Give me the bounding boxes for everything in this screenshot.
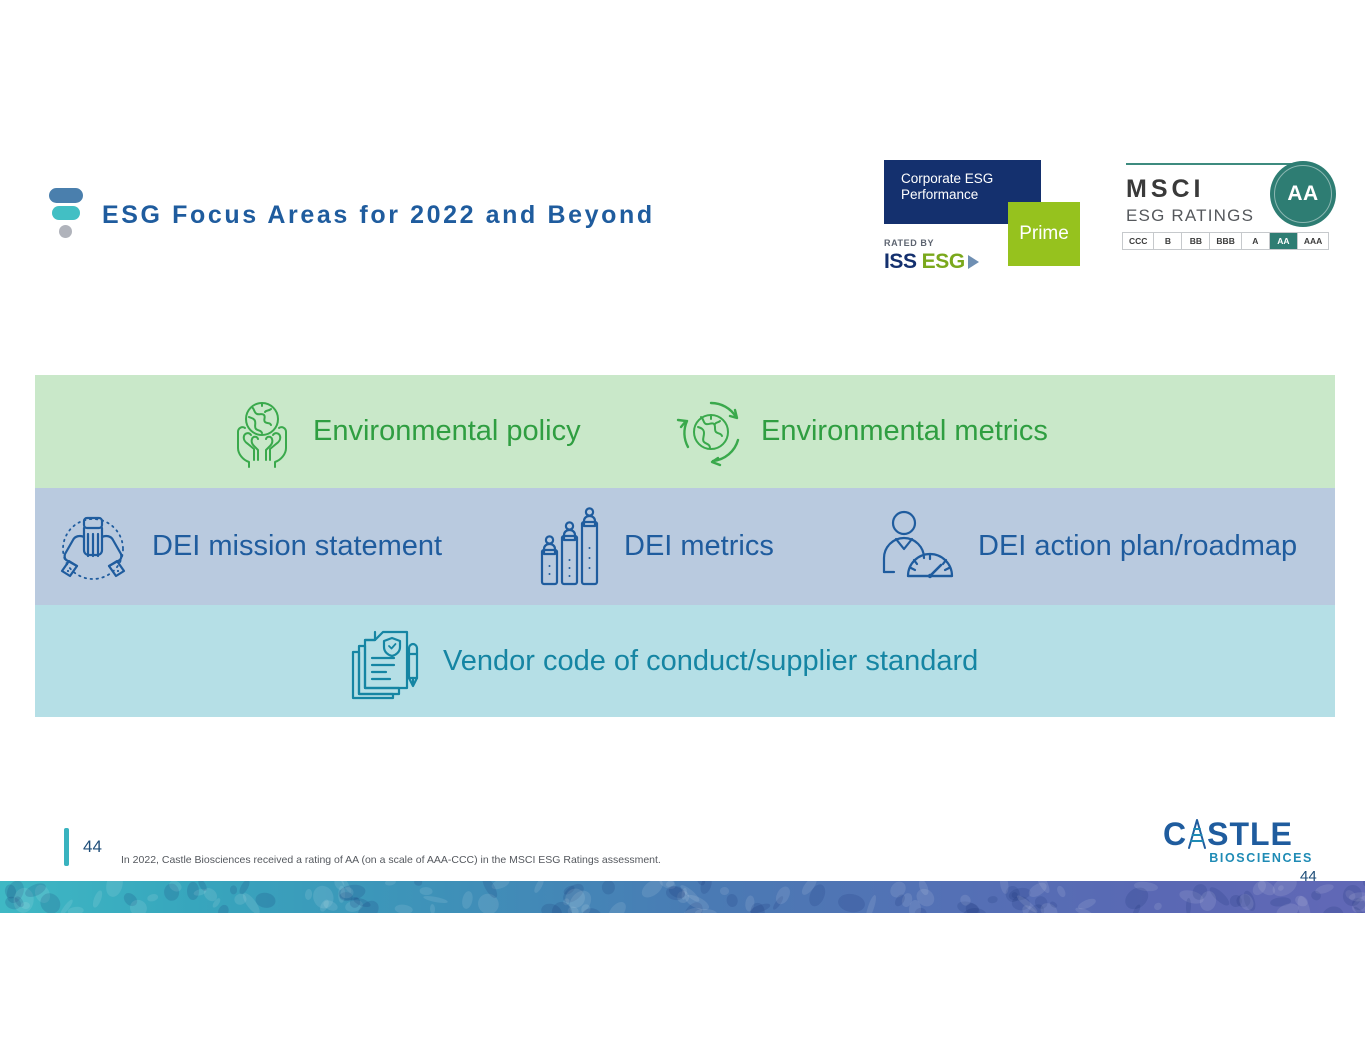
iss-esg-wordmark: ISS ESG: [884, 250, 979, 274]
msci-title: MSCI: [1126, 175, 1205, 204]
msci-scale-cell-bbb: BBB: [1210, 233, 1241, 249]
person-gauge-icon: [878, 506, 962, 588]
texture-blob: [1314, 882, 1334, 895]
castle-subtitle: BIOSCIENCES: [1163, 851, 1313, 865]
focus-item-label: Vendor code of conduct/supplier standard: [443, 645, 978, 678]
msci-scale-cell-aaa: AAA: [1298, 233, 1328, 249]
focus-area-bands: Environmental policy Environmenta: [35, 375, 1335, 717]
msci-scale-cell-a: A: [1242, 233, 1270, 249]
esg-text: ESG: [922, 250, 965, 274]
msci-scale-cell-bb: BB: [1182, 233, 1210, 249]
castle-biosciences-logo: C STLE BIOSCIENCES: [1163, 818, 1313, 866]
texture-blob: [91, 890, 104, 909]
focus-item-label: Environmental metrics: [761, 415, 1048, 448]
castle-bullet-icon: [48, 186, 84, 244]
iss-rated-by-label: RATED BY: [884, 238, 934, 248]
iss-text: ISS: [884, 250, 917, 274]
slide: ESG Focus Areas for 2022 and Beyond Corp…: [0, 0, 1365, 1055]
texture-blob: [1055, 885, 1067, 899]
msci-esg-ratings-badge: MSCI ESG RATINGS AA CCCBBBBBBAAAAAA: [1122, 155, 1337, 260]
dna-helix-icon: [1186, 818, 1208, 850]
texture-blob: [695, 908, 717, 913]
castle-wordmark: C STLE: [1163, 818, 1313, 850]
focus-item-label: DEI action plan/roadmap: [978, 530, 1297, 563]
texture-blob: [104, 881, 125, 899]
texture-blob: [146, 893, 159, 903]
texture-blob: [413, 881, 423, 886]
texture-blob: [423, 894, 449, 904]
texture-blob: [602, 881, 615, 894]
iss-line1: Corporate ESG: [901, 171, 1041, 187]
focus-item-dei-mission-statement[interactable]: DEI mission statement: [50, 504, 442, 590]
msci-scale-cell-ccc: CCC: [1123, 233, 1154, 249]
focus-item-label: DEI mission statement: [152, 530, 442, 563]
texture-blob: [837, 892, 866, 913]
texture-blob: [1186, 898, 1192, 913]
focus-item-dei-action-plan[interactable]: DEI action plan/roadmap: [878, 506, 1297, 588]
joined-hands-icon: [50, 504, 136, 590]
band-dei: DEI mission statement: [35, 488, 1335, 605]
page-title: ESG Focus Areas for 2022 and Beyond: [102, 201, 655, 230]
texture-blob: [419, 886, 432, 895]
msci-rating-scale: CCCBBBBBBAAAAAA: [1122, 232, 1329, 250]
msci-rating-value: AA: [1287, 182, 1318, 206]
texture-blob: [1319, 903, 1347, 913]
iss-prime-badge: Prime: [1008, 202, 1080, 266]
globe-in-hands-icon: [225, 395, 299, 469]
focus-item-environmental-metrics[interactable]: Environmental metrics: [675, 396, 1048, 468]
texture-blob: [605, 899, 629, 913]
focus-item-environmental-policy[interactable]: Environmental policy: [225, 395, 581, 469]
triangle-icon: [968, 255, 979, 269]
texture-blob: [68, 906, 84, 913]
focus-item-label: Environmental policy: [313, 415, 581, 448]
texture-blob: [864, 894, 878, 913]
focus-item-vendor-code[interactable]: Vendor code of conduct/supplier standard: [345, 620, 978, 702]
band-environmental: Environmental policy Environmenta: [35, 375, 1335, 488]
texture-blob: [394, 903, 413, 913]
msci-scale-cell-aa: AA: [1270, 233, 1298, 249]
texture-blob: [908, 899, 921, 913]
castle-letter-c: C: [1163, 818, 1187, 850]
band-vendor: Vendor code of conduct/supplier standard: [35, 605, 1335, 717]
texture-blob: [988, 895, 998, 903]
texture-blob: [217, 904, 231, 913]
msci-scale-cell-b: B: [1154, 233, 1182, 249]
document-pen-shield-icon: [345, 620, 427, 702]
texture-blob: [1152, 901, 1162, 911]
texture-blob: [533, 881, 546, 894]
castle-letters-rest: STLE: [1207, 818, 1293, 850]
msci-rating-circle: AA: [1270, 161, 1336, 227]
page-number-marker: 44: [64, 828, 102, 866]
page-marker-bar: [64, 828, 69, 866]
focus-item-dei-metrics[interactable]: DEI metrics: [532, 504, 774, 590]
texture-blob: [229, 885, 237, 894]
slide-title-row: ESG Focus Areas for 2022 and Beyond: [48, 186, 655, 244]
texture-blob: [429, 903, 435, 913]
texture-blob: [1349, 892, 1365, 903]
texture-blob: [385, 881, 397, 887]
texture-blob: [304, 889, 312, 901]
iss-esg-badge: Corporate ESG Performance Prime RATED BY…: [884, 160, 1080, 275]
people-bar-chart-icon: [532, 504, 608, 590]
texture-blob: [460, 890, 474, 910]
globe-recycle-icon: [675, 396, 747, 468]
page-number: 44: [83, 837, 102, 857]
footnote: In 2022, Castle Biosciences received a r…: [121, 854, 661, 866]
focus-item-label: DEI metrics: [624, 530, 774, 563]
msci-subtitle: ESG RATINGS: [1126, 206, 1254, 226]
decorative-footer-band: [0, 881, 1365, 913]
msci-divider: [1126, 163, 1308, 165]
texture-blob: [726, 893, 739, 908]
